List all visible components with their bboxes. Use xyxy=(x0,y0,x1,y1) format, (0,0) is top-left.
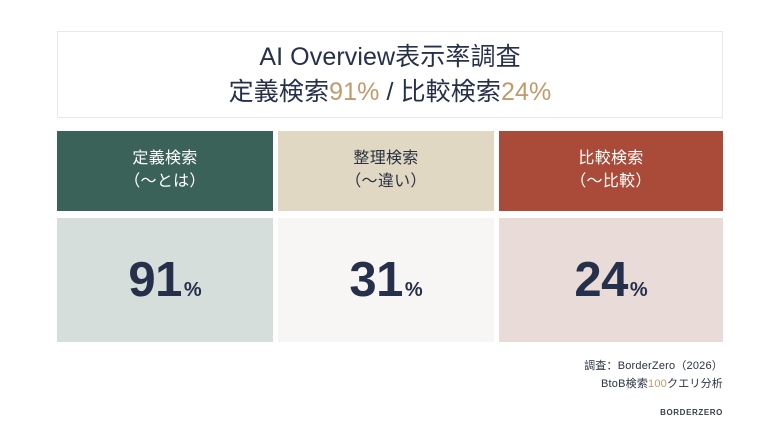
column-value-organize: 31 % xyxy=(278,218,494,342)
metric-compare-number: 24 xyxy=(574,256,628,305)
column-header-organize-line2: （〜違い） xyxy=(345,171,427,194)
method-note-suffix: クエリ分析 xyxy=(667,378,723,390)
metric-define: 91 % xyxy=(128,256,201,305)
metric-define-number: 91 xyxy=(128,256,182,305)
column-header-define: 定義検索 （〜とは） xyxy=(57,131,273,211)
metric-organize-unit: % xyxy=(405,280,423,300)
metric-compare-unit: % xyxy=(630,280,648,300)
page-title: AI Overview表示率調査 xyxy=(259,42,520,73)
subtitle-segment-compare-label: 比較検索 xyxy=(401,78,501,106)
page-subtitle: 定義検索91% / 比較検索24% xyxy=(229,77,552,108)
column-value-compare: 24 % xyxy=(499,218,723,342)
metric-organize: 31 % xyxy=(349,256,422,305)
subtitle-segment-compare-value: 24% xyxy=(501,78,551,106)
column-header-compare-line2: （〜比較） xyxy=(570,171,652,194)
metric-compare: 24 % xyxy=(574,256,647,305)
column-header-organize-line1: 整理検索 xyxy=(353,148,418,171)
brand-logo: BorderZero xyxy=(423,404,723,418)
column-header-compare-line1: 比較検索 xyxy=(578,148,643,171)
subtitle-segment-define-value: 91% xyxy=(329,78,379,106)
subtitle-segment-define-label: 定義検索 xyxy=(229,78,329,106)
metric-define-unit: % xyxy=(184,280,202,300)
source-note: 調査：BorderZero（2026） xyxy=(423,358,723,376)
method-note: BtoB検索100クエリ分析 xyxy=(423,376,723,394)
table-column-compare: 比較検索 （〜比較） 24 % xyxy=(499,131,723,342)
column-header-organize: 整理検索 （〜違い） xyxy=(278,131,494,211)
column-header-define-line1: 定義検索 xyxy=(132,148,197,171)
column-header-define-line2: （〜とは） xyxy=(124,171,206,194)
table-column-organize: 整理検索 （〜違い） 31 % xyxy=(278,131,494,342)
metric-organize-number: 31 xyxy=(349,256,403,305)
column-header-compare: 比較検索 （〜比較） xyxy=(499,131,723,211)
method-note-prefix: BtoB検索 xyxy=(601,378,648,390)
title-card: AI Overview表示率調査 定義検索91% / 比較検索24% xyxy=(57,31,723,118)
subtitle-separator: / xyxy=(379,78,400,106)
column-value-define: 91 % xyxy=(57,218,273,342)
slide-canvas: AI Overview表示率調査 定義検索91% / 比較検索24% 定義検索 … xyxy=(0,0,780,438)
footer-block: 調査：BorderZero（2026） BtoB検索100クエリ分析 Borde… xyxy=(423,358,723,418)
comparison-table: 定義検索 （〜とは） 91 % 整理検索 （〜違い） 31 % xyxy=(57,131,723,342)
table-column-define: 定義検索 （〜とは） 91 % xyxy=(57,131,273,342)
method-note-count: 100 xyxy=(648,378,667,390)
